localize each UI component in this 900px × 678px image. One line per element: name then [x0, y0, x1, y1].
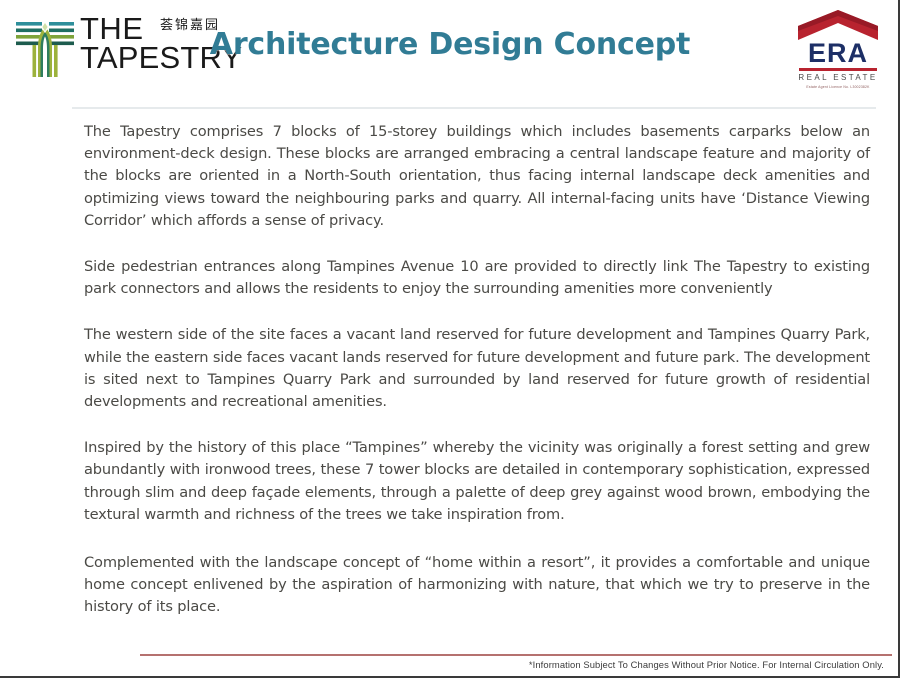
- era-license-label: Estate Agent Licence No. L3002382K: [798, 84, 878, 90]
- era-divider: [799, 68, 877, 71]
- era-logo: ERA REAL ESTATE Estate Agent Licence No.…: [798, 10, 878, 90]
- slide-canvas: THE TAPESTRY 荟锦嘉园 Architecture Design Co…: [0, 0, 900, 678]
- header-divider: [72, 107, 876, 109]
- paragraph-4: Inspired by the history of this place “T…: [84, 437, 870, 526]
- era-roof-chevron-icon: [798, 10, 878, 40]
- paragraph-2: Side pedestrian entrances along Tampines…: [84, 256, 870, 300]
- footer-divider: [140, 654, 892, 656]
- page-title: Architecture Design Concept: [0, 0, 900, 62]
- footer-disclaimer: *Information Subject To Changes Without …: [529, 659, 884, 670]
- paragraph-1: The Tapestry comprises 7 blocks of 15-st…: [84, 121, 870, 232]
- slide-header: THE TAPESTRY 荟锦嘉园 Architecture Design Co…: [0, 0, 900, 100]
- paragraph-5: Complemented with the landscape concept …: [84, 552, 870, 619]
- era-tagline-label: REAL ESTATE: [798, 73, 878, 82]
- era-name-label: ERA: [798, 39, 878, 67]
- body-content: The Tapestry comprises 7 blocks of 15-st…: [84, 121, 870, 619]
- paragraph-3: The western side of the site faces a vac…: [84, 324, 870, 413]
